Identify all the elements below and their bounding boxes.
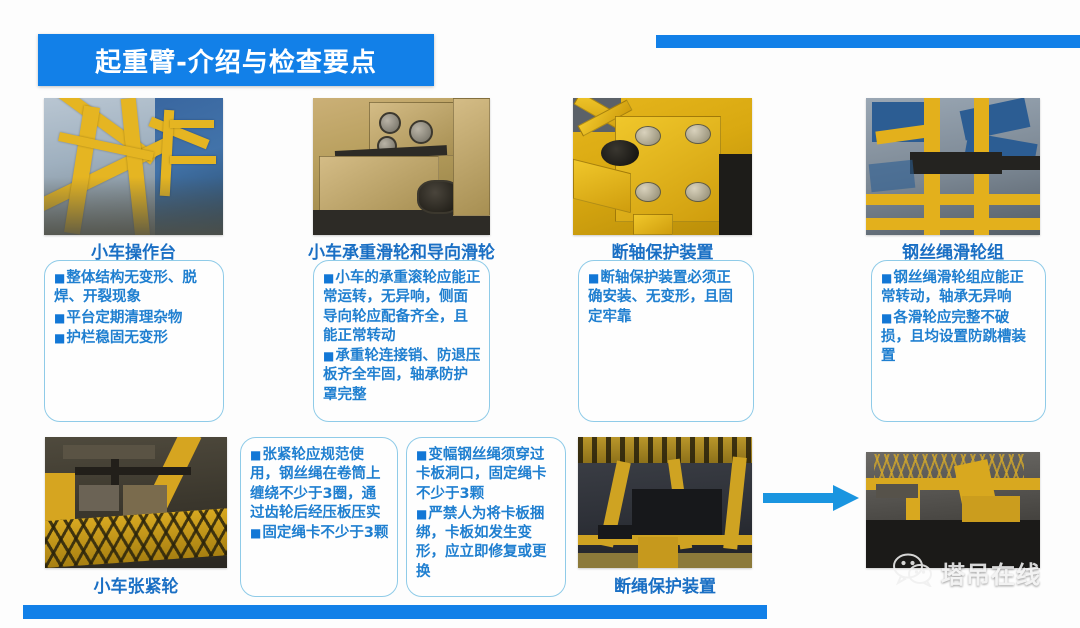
- flow-arrow-right: [763, 485, 859, 511]
- note-bullet: 钢丝绳滑轮组应能正常转动，轴承无异响: [881, 269, 1037, 308]
- note-bullet: 变幅钢丝绳须穿过卡板洞口，固定绳卡不少于3颗: [416, 446, 557, 504]
- note-bullet: 断轴保护装置必须正确安装、无变形，且固定牢靠: [588, 269, 745, 327]
- caption-broken-rope-protection: 断绳保护装置: [578, 572, 752, 597]
- note-bullet: 平台定期清理杂物: [54, 309, 215, 328]
- page-title: 起重臂-介绍与检查要点: [95, 42, 377, 79]
- slide-title-bar: 起重臂-介绍与检查要点: [38, 34, 434, 86]
- note-trolley-load-sheave: 小车的承重滚轮应能正常运转，无异响，侧面导向轮应配备齐全，且能正常转动 承重轮连…: [313, 260, 490, 422]
- watermark: 塔吊在线: [893, 553, 1041, 591]
- caption-trolley-tension-wheel: 小车张紧轮: [45, 572, 227, 597]
- broken-shaft-protection-photo: [573, 98, 752, 235]
- trolley-tension-wheel-photo: [45, 437, 227, 568]
- note-luffing-rope: 变幅钢丝绳须穿过卡板洞口，固定绳卡不少于3颗 严禁人为将卡板捆绑，卡板如发生变形…: [406, 437, 566, 597]
- footer-accent-bar: [23, 605, 767, 619]
- note-bullet: 小车的承重滚轮应能正常运转，无异响，侧面导向轮应配备齐全，且能正常转动: [323, 269, 481, 346]
- slide-canvas: 起重臂-介绍与检查要点 小车操作台 小车承重滑轮和导向滑轮: [0, 0, 1080, 628]
- watermark-text: 塔吊在线: [941, 555, 1041, 590]
- note-bullet: 张紧轮应规范使用，钢丝绳在卷筒上缠绕不少于3圈，通过齿轮后经压板压实: [250, 446, 389, 523]
- note-bullet: 整体结构无变形、脱焊、开裂现象: [54, 269, 215, 308]
- note-broken-shaft-protection: 断轴保护装置必须正确安装、无变形，且固定牢靠: [578, 260, 754, 422]
- trolley-operator-platform-photo: [44, 98, 223, 235]
- note-bullet: 各滑轮应完整不破损，且均设置防跳槽装置: [881, 309, 1037, 367]
- wechat-icon: [893, 553, 935, 591]
- note-tension-wheel: 张紧轮应规范使用，钢丝绳在卷筒上缠绕不少于3圈，通过齿轮后经压板压实 固定绳卡不…: [240, 437, 398, 597]
- note-bullet: 护栏稳固无变形: [54, 329, 215, 348]
- broken-rope-protection-photo: [578, 437, 752, 568]
- note-wire-rope-sheave-block: 钢丝绳滑轮组应能正常转动，轴承无异响 各滑轮应完整不破损，且均设置防跳槽装置: [871, 260, 1046, 422]
- trolley-load-sheave-photo: [313, 98, 490, 235]
- broken-rope-protection-detail-photo: [866, 452, 1040, 568]
- header-accent-bar: [656, 35, 1080, 48]
- note-trolley-operator-platform: 整体结构无变形、脱焊、开裂现象 平台定期清理杂物 护栏稳固无变形: [44, 260, 224, 422]
- note-bullet: 承重轮连接销、防退压板齐全牢固，轴承防护罩完整: [323, 347, 481, 405]
- note-bullet: 固定绳卡不少于3颗: [250, 524, 389, 543]
- wire-rope-sheave-block-photo: [866, 98, 1040, 235]
- note-bullet: 严禁人为将卡板捆绑，卡板如发生变形，应立即修复或更换: [416, 505, 557, 582]
